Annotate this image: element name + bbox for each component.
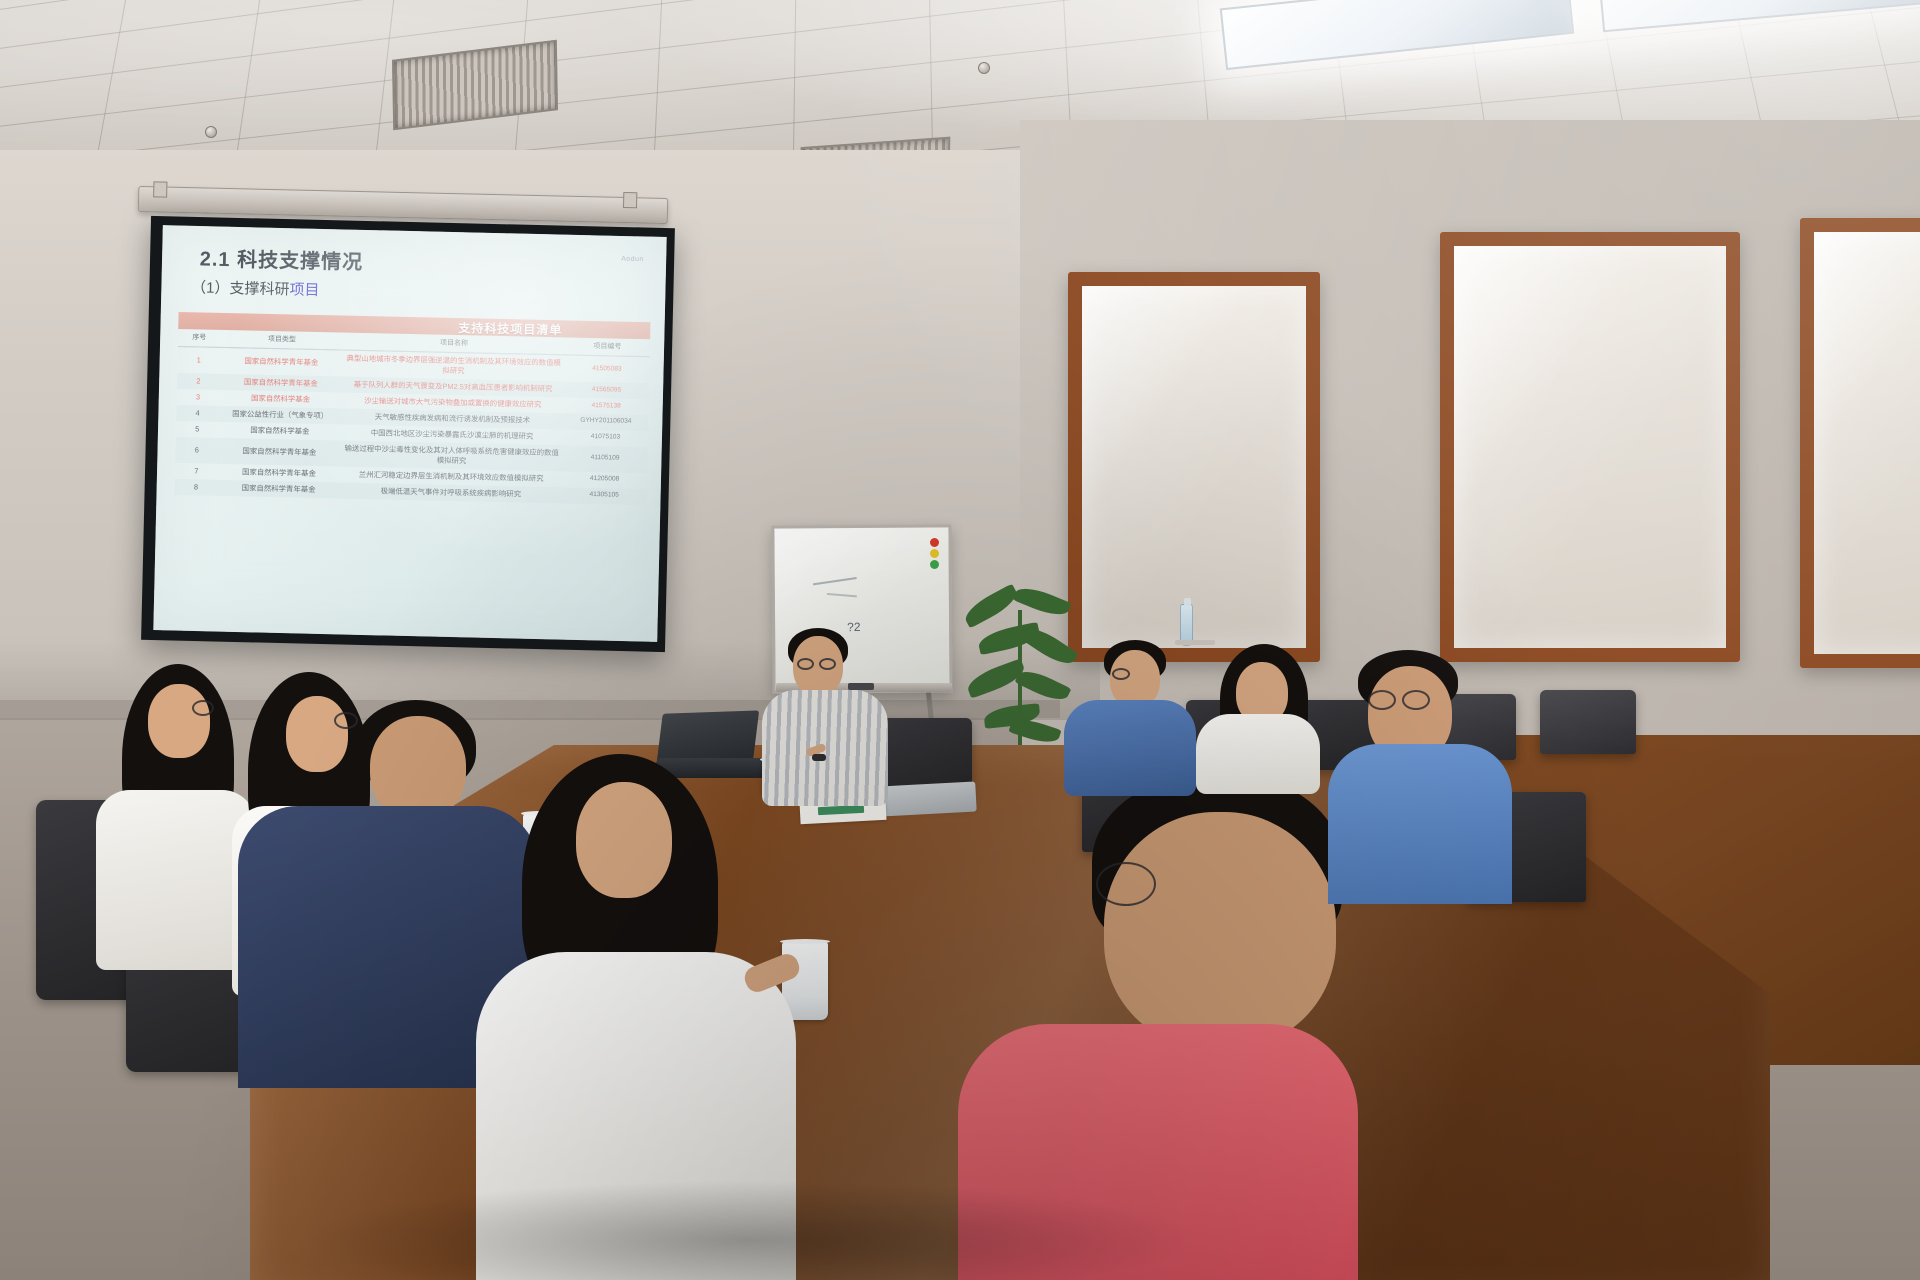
chair[interactable] xyxy=(1540,690,1636,754)
window-glare xyxy=(1814,232,1920,654)
cell-id: 41305105 xyxy=(562,487,647,505)
window-sill xyxy=(1800,654,1920,668)
cell-id: 41205008 xyxy=(562,471,647,489)
cell-type: 国家自然科学青年基金 xyxy=(217,480,340,499)
glasses-icon xyxy=(1096,862,1156,906)
torso xyxy=(1064,700,1196,796)
plant-stem xyxy=(1018,610,1022,760)
window-2 xyxy=(1440,232,1740,662)
cell-type: 国家自然科学青年基金 xyxy=(220,347,343,376)
slide-surface: 2.1 科技支撑情况 Aodun （1）支撑科研项目 支持科技项目清单 序号 项… xyxy=(153,225,666,642)
project-table-wrapper: 支持科技项目清单 序号 项目类型 项目名称 项目编号 1国家自然科学青年基金典型… xyxy=(175,312,651,505)
sprinkler-head-1 xyxy=(205,126,217,138)
window-sill xyxy=(1440,648,1740,662)
slide-logo: Aodun xyxy=(621,256,644,263)
slide-subtitle: （1）支撑科研项目 xyxy=(191,276,320,300)
cup-lip xyxy=(780,939,830,944)
head xyxy=(286,696,348,772)
head xyxy=(148,684,210,758)
glasses-icon xyxy=(334,712,358,729)
cell-no: 8 xyxy=(175,479,218,496)
cell-id: 41075103 xyxy=(563,429,648,447)
whiteboard-marker[interactable] xyxy=(848,683,874,690)
glasses-icon xyxy=(1402,690,1430,710)
table-banner-title: 支持科技项目清单 xyxy=(458,319,562,338)
window-1 xyxy=(1068,272,1320,662)
head xyxy=(370,716,466,820)
head xyxy=(576,782,672,898)
projection-screen: 2.1 科技支撑情况 Aodun （1）支撑科研项目 支持科技项目清单 序号 项… xyxy=(141,216,675,652)
slide-subtitle-highlight: 项目 xyxy=(289,281,319,299)
cell-no: 3 xyxy=(177,389,220,406)
torso xyxy=(1328,744,1512,904)
window-ledge-item xyxy=(1175,640,1215,645)
cell-id: 41105109 xyxy=(562,445,648,473)
cell-id: GYHY201106034 xyxy=(563,413,648,431)
head xyxy=(1104,812,1336,1048)
glasses-icon xyxy=(192,700,214,716)
glasses-icon xyxy=(819,658,836,670)
window-3 xyxy=(1800,218,1920,668)
laptop-silver[interactable] xyxy=(879,782,976,817)
glasses-icon xyxy=(1368,690,1396,710)
slide-subtitle-prefix: （1）支撑科研 xyxy=(191,279,290,298)
cell-no: 5 xyxy=(176,421,219,438)
whiteboard-clip-green xyxy=(930,560,939,569)
col-header-id: 项目编号 xyxy=(565,337,650,356)
laptop-lid[interactable] xyxy=(657,710,759,761)
whiteboard-clip-red xyxy=(930,538,939,547)
screen-bracket-right xyxy=(623,192,637,208)
slide-content: 2.1 科技支撑情况 Aodun （1）支撑科研项目 支持科技项目清单 序号 项… xyxy=(154,226,667,642)
sprinkler-head-2 xyxy=(978,62,990,74)
whiteboard-scribble: ?2 xyxy=(847,620,860,634)
glasses-icon xyxy=(797,658,814,670)
cell-name: 极端低温天气事件对呼吸系统疾病影响研究 xyxy=(340,482,562,503)
cell-no: 7 xyxy=(175,463,218,480)
wristwatch xyxy=(812,754,826,761)
slide-title: 2.1 科技支撑情况 xyxy=(199,242,363,275)
cell-id: 41565095 xyxy=(564,381,649,399)
cell-no: 1 xyxy=(177,346,220,373)
col-header-no: 序号 xyxy=(178,329,221,347)
conference-room-scene: 2.1 科技支撑情况 Aodun （1）支撑科研项目 支持科技项目清单 序号 项… xyxy=(0,0,1920,1280)
whiteboard-clip-yellow xyxy=(930,549,939,558)
glasses-icon xyxy=(1112,668,1130,680)
cell-id: 41575138 xyxy=(564,397,649,415)
window-glare xyxy=(1454,246,1726,648)
window-glare xyxy=(1082,286,1306,648)
cell-no: 2 xyxy=(177,373,220,390)
torso xyxy=(1196,714,1320,794)
screen-bracket-left xyxy=(153,181,167,197)
project-table-body: 1国家自然科学青年基金典型山地城市冬季边界层强逆温的生消机制及其环境效应的数值模… xyxy=(175,346,650,505)
cell-id: 41505083 xyxy=(564,355,650,383)
cell-no: 4 xyxy=(176,405,219,422)
project-table: 序号 项目类型 项目名称 项目编号 1国家自然科学青年基金典型山地城市冬季边界层… xyxy=(175,329,651,505)
cell-no: 6 xyxy=(175,437,218,464)
cell-type: 国家自然科学青年基金 xyxy=(218,438,341,467)
